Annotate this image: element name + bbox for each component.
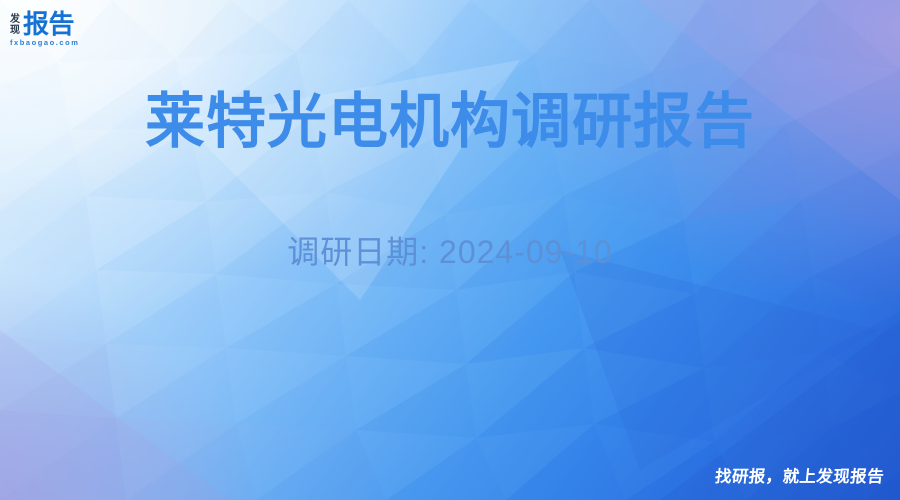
logo-char-fa: 发 [10, 14, 20, 25]
survey-date-subtitle: 调研日期: 2024-09-10 [0, 230, 900, 274]
subtitle-block: 调研日期: 2024-09-10 [0, 230, 900, 274]
logo-wordmark-row: 发 现 报告 [10, 9, 160, 37]
page-title: 莱特光电机构调研报告 [0, 86, 900, 158]
site-logo[interactable]: 发 现 报告 fxbaogao.com [10, 9, 160, 51]
logo-stacked-chars: 发 现 [10, 14, 20, 37]
logo-char-xian: 现 [10, 25, 20, 36]
footer-slogan: 找研报，就上发现报告 [714, 467, 885, 487]
title-block: 莱特光电机构调研报告 [0, 86, 900, 158]
logo-wordmark: 报告 [23, 11, 74, 37]
logo-url: fxbaogao.com [10, 38, 160, 47]
report-cover: 发 现 报告 fxbaogao.com 莱特光电机构调研报告 调研日期: 202… [0, 0, 900, 500]
